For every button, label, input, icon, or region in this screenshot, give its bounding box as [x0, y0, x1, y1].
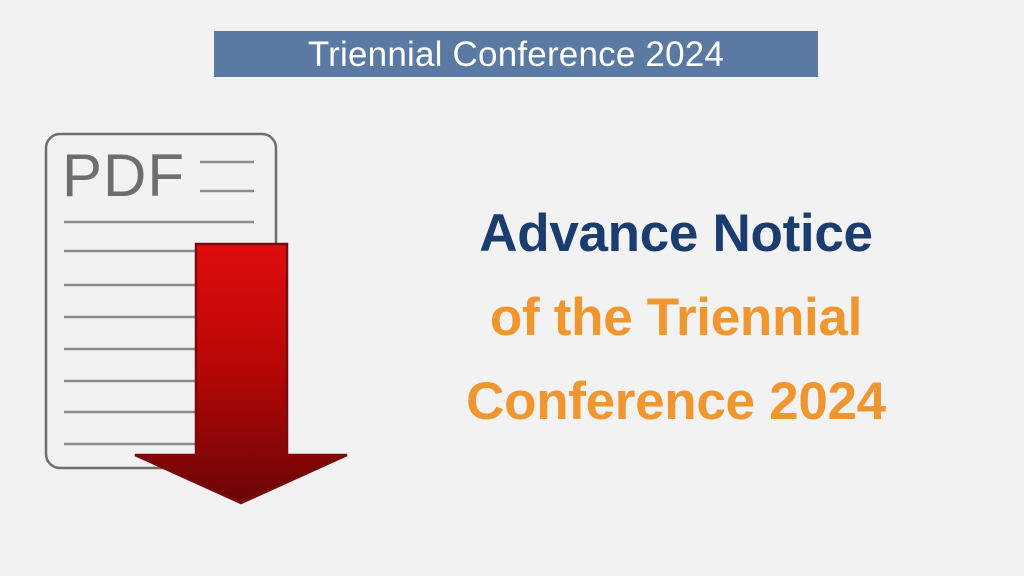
svg-text:PDF: PDF: [62, 142, 185, 209]
headline-line-1: Advance Notice: [386, 192, 966, 276]
banner: Triennial Conference 2024: [214, 31, 818, 77]
headline-line-3: Conference 2024: [386, 360, 966, 444]
pdf-download-graphic: PDF: [36, 124, 366, 516]
slide-canvas: Triennial Conference 2024 PDF: [0, 0, 1024, 576]
headline-line-2: of the Triennial: [386, 276, 966, 360]
banner-title: Triennial Conference 2024: [308, 37, 724, 72]
headline-block: Advance Notice of the Triennial Conferen…: [386, 192, 966, 444]
